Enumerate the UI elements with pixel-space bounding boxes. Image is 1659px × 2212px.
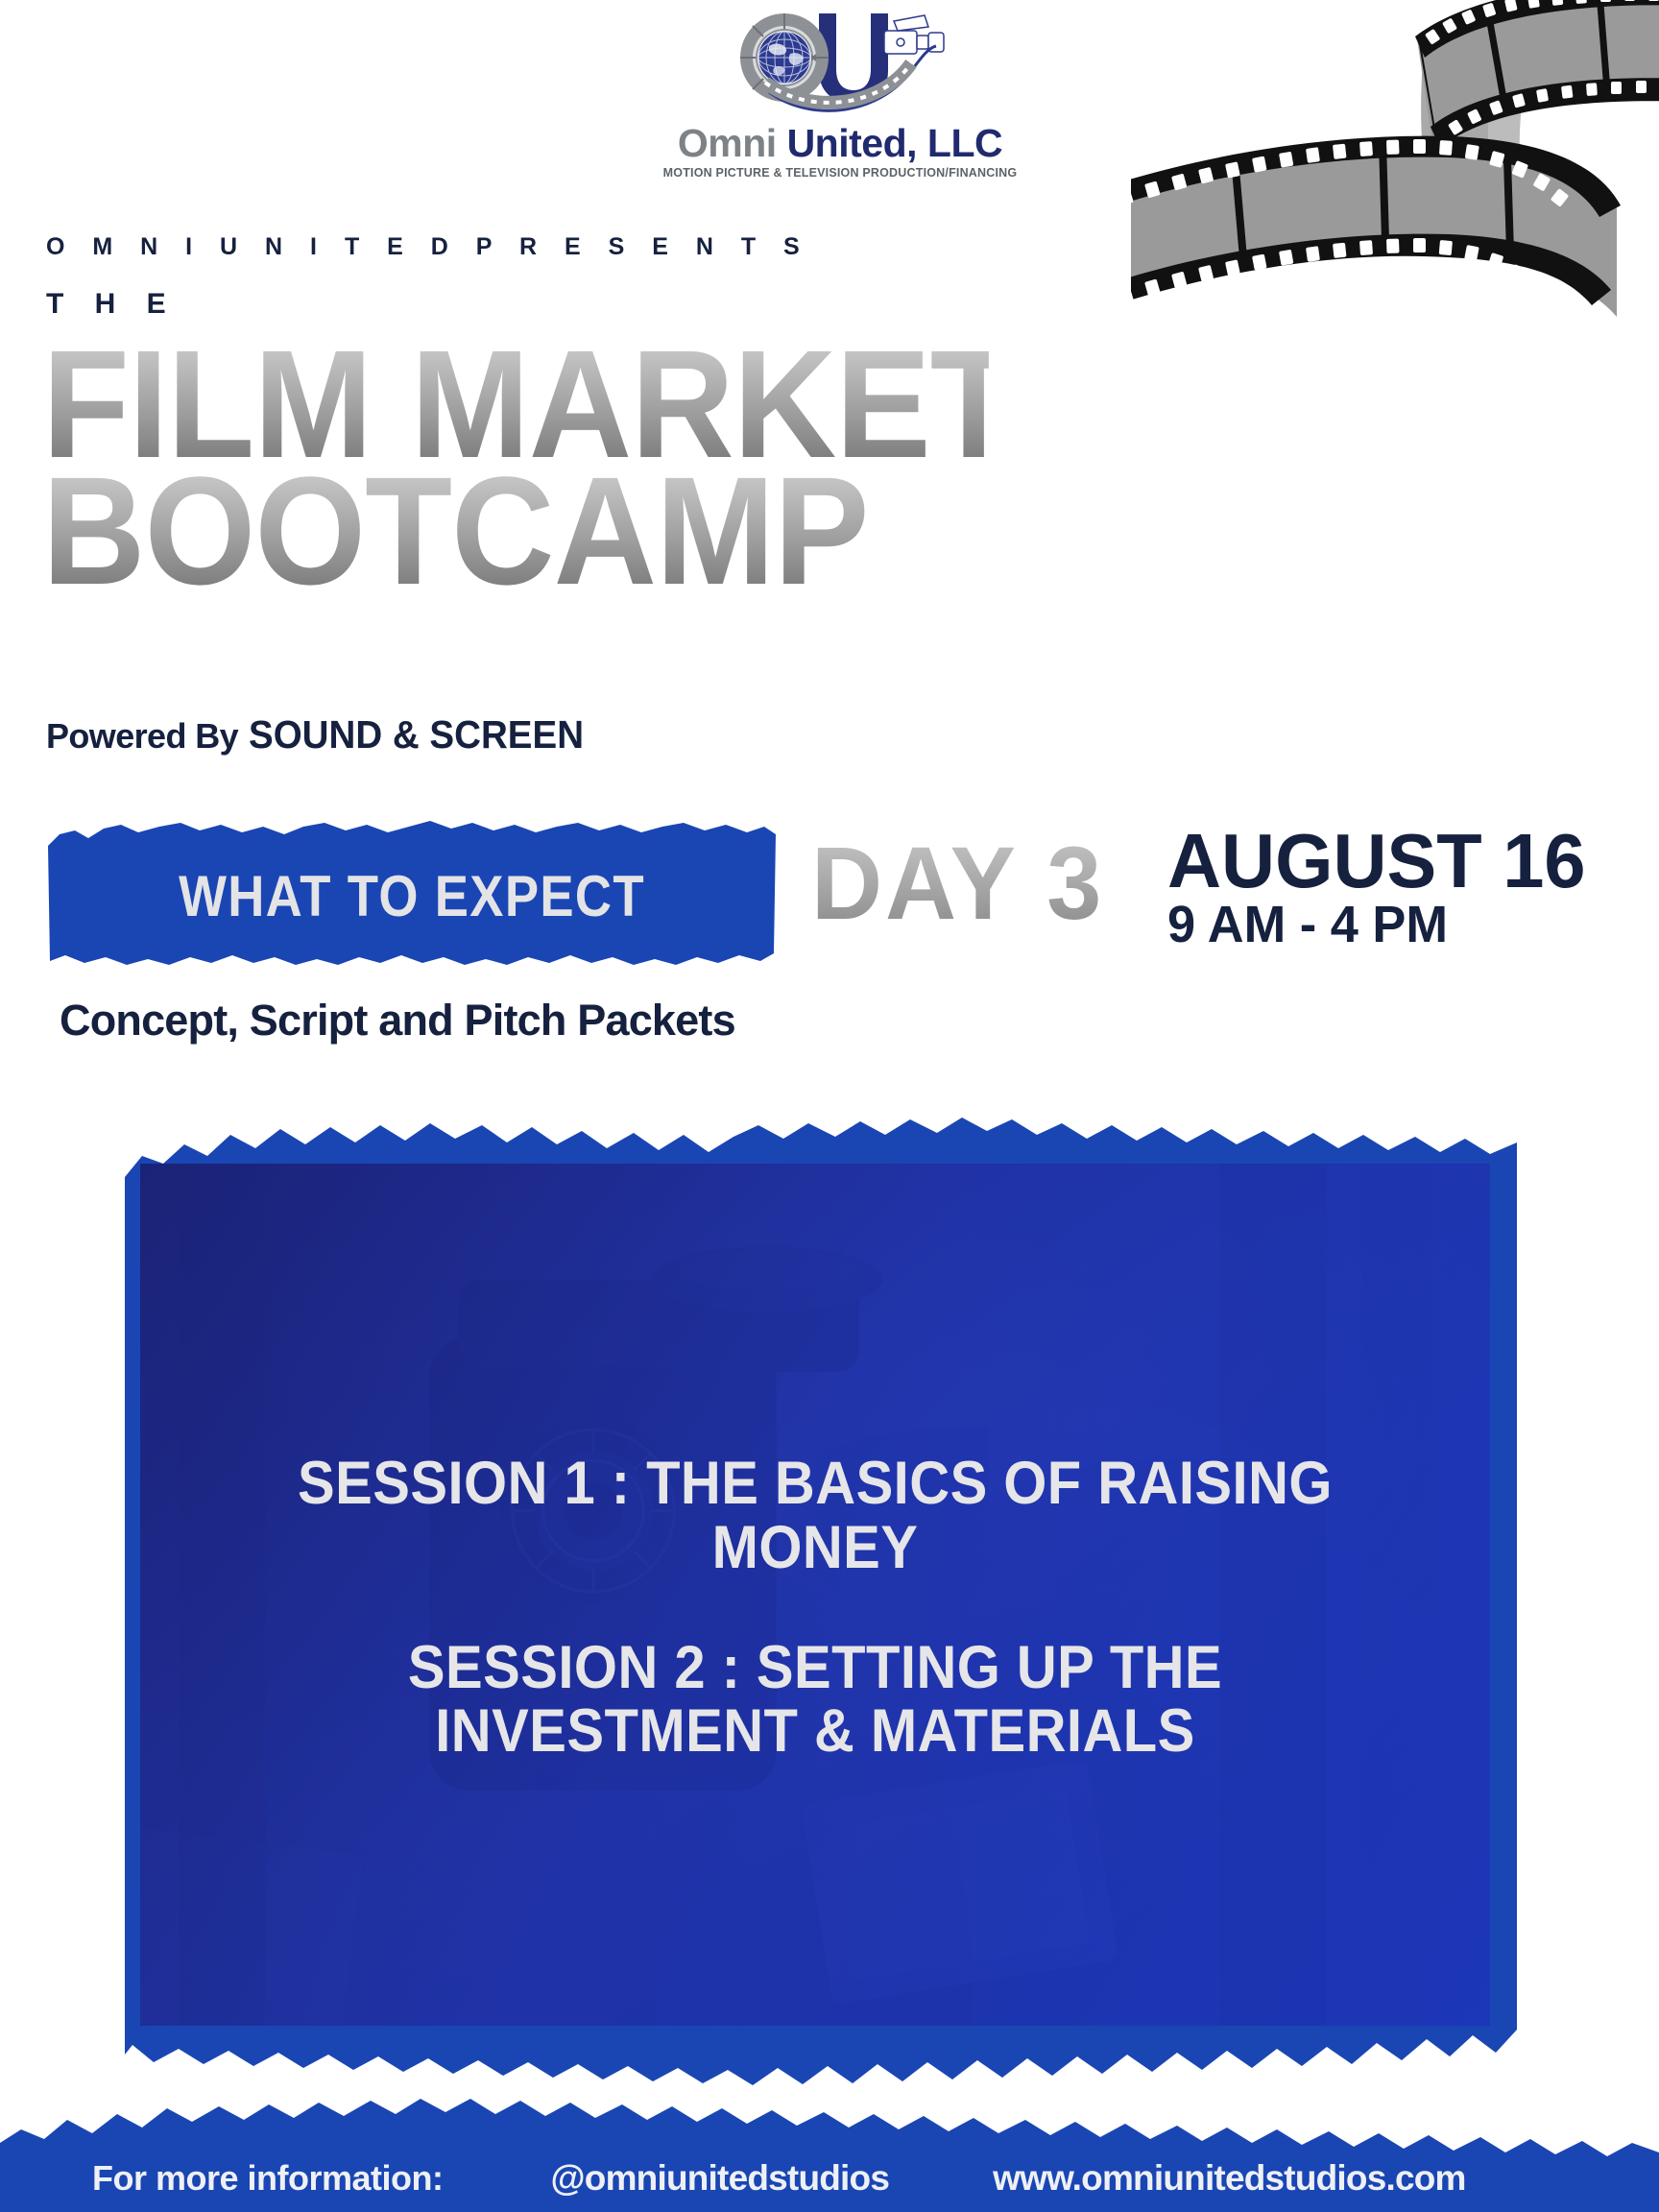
day-number: DAY 3 [811, 831, 1104, 935]
session-item: SESSION 1 : THE BASICS OF RAISING MONEY [221, 1452, 1409, 1580]
badge-label: WHAT TO EXPECT [90, 821, 734, 967]
what-to-expect-badge: WHAT TO EXPECT [46, 821, 778, 967]
session-list: SESSION 1 : THE BASICS OF RAISING MONEY … [140, 1452, 1490, 1764]
film-strip-icon [1131, 0, 1659, 378]
session-photo-panel: SESSION 1 : THE BASICS OF RAISING MONEY … [125, 1106, 1517, 2085]
session-item: SESSION 2 : SETTING UP THE INVESTMENT & … [221, 1636, 1409, 1765]
presents-kicker: O M N I U N I T E D P R E S E N T S [46, 233, 810, 261]
film-reel-globe-camera-icon [706, 8, 974, 128]
event-time: 9 AM - 4 PM [1167, 899, 1586, 951]
footer-website-link[interactable]: www.omniunitedstudios.com [993, 2158, 1466, 2199]
footer-contact-row: For more information: @omniunitedstudios… [0, 2158, 1659, 2199]
powered-by: Powered By SOUND & SCREEN [46, 712, 605, 757]
event-date: AUGUST 16 [1167, 826, 1586, 897]
page-subtitle: Concept, Script and Pitch Packets [60, 996, 735, 1046]
powered-by-brand: SOUND & SCREEN [249, 712, 584, 757]
logo-wordmark: Omni United, LLC [678, 124, 1002, 163]
the-kicker: T H E [46, 288, 178, 321]
footer-info-label: For more information: [92, 2158, 444, 2199]
footer-social-handle[interactable]: @omniunitedstudios [551, 2158, 890, 2199]
page-title: FILM MARKET BOOTCAMP [42, 344, 1060, 592]
powered-by-prefix: Powered By [46, 716, 238, 757]
event-date-block: AUGUST 16 9 AM - 4 PM [1167, 826, 1599, 951]
title-line-2: BOOTCAMP [42, 470, 989, 591]
company-logo: Omni United, LLC MOTION PICTURE & TELEVI… [634, 8, 1046, 180]
photographer-camera-photo: SESSION 1 : THE BASICS OF RAISING MONEY … [140, 1164, 1490, 2026]
logo-tagline: MOTION PICTURE & TELEVISION PRODUCTION/F… [663, 166, 1018, 180]
footer-bar: For more information: @omniunitedstudios… [0, 2097, 1659, 2212]
